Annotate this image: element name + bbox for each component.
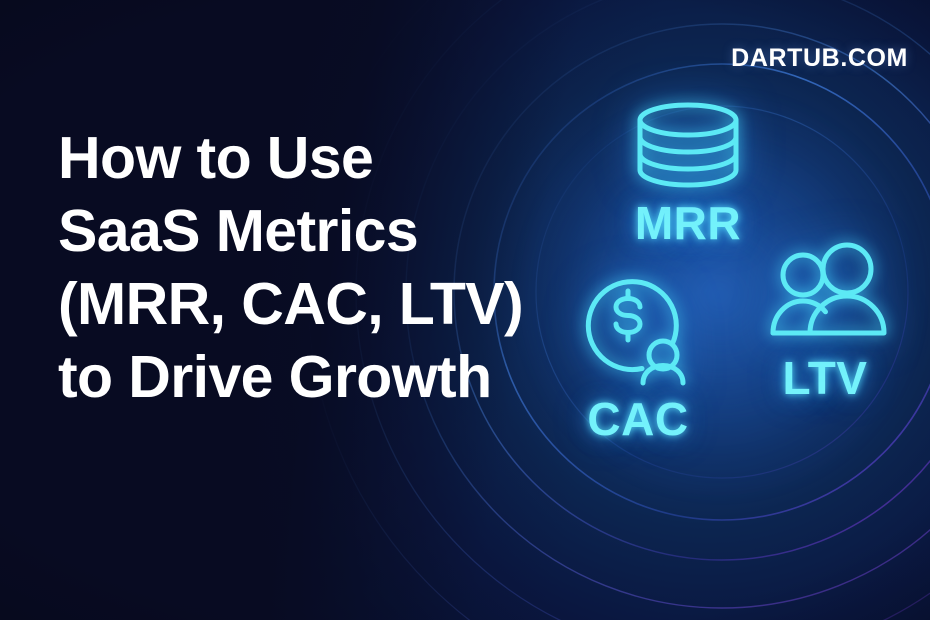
metric-ltv: LTV (735, 245, 915, 401)
metric-mrr: MRR (598, 102, 778, 246)
headline-line-3: (MRR, CAC, LTV) (58, 268, 528, 341)
metric-ltv-label: LTV (735, 355, 915, 401)
headline-line-1: How to Use (58, 122, 528, 195)
site-logo: DARTUB.COM (731, 44, 908, 73)
metric-mrr-label: MRR (598, 200, 778, 246)
metrics-cluster: MRR CAC (520, 70, 930, 490)
headline-line-2: SaaS Metrics (58, 195, 528, 268)
metric-cac-label: CAC (548, 396, 728, 442)
page-title: How to Use SaaS Metrics (MRR, CAC, LTV) … (58, 122, 528, 414)
database-stack-icon (632, 102, 744, 188)
dollar-circle-person-icon (576, 270, 700, 386)
banner-canvas: DARTUB.COM How to Use SaaS Metrics (MRR,… (0, 0, 930, 620)
metric-cac: CAC (548, 270, 728, 442)
two-people-icon (763, 245, 887, 345)
headline-line-4: to Drive Growth (58, 341, 528, 414)
